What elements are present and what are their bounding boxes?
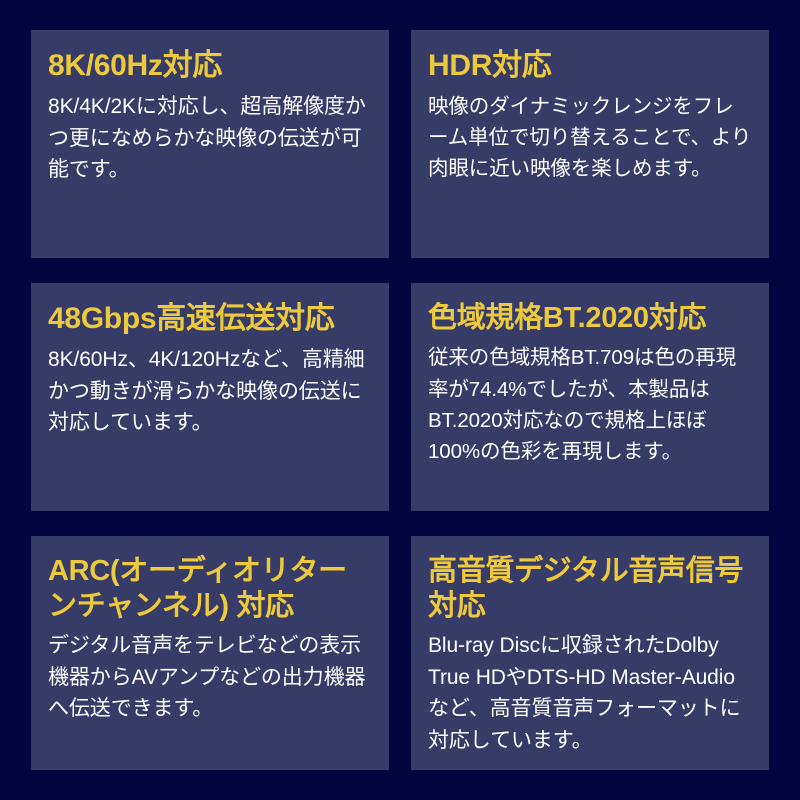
feature-cards-page: 8K/60Hz対応 8K/4K/2Kに対応し、超高解像度かつ更になめらかな映像の… [0, 0, 800, 800]
feature-card-body: 8K/60Hz、4K/120Hzなど、高精細かつ動きが滑らかな映像の伝送に対応し… [48, 344, 373, 440]
feature-card-heading: 高音質デジタル音声信号対応 [428, 554, 753, 624]
feature-card-hq-audio: 高音質デジタル音声信号対応 Blu-ray Discに収録されたDolby Tr… [411, 536, 769, 770]
feature-card-body: Blu-ray Discに収録されたDolby True HDやDTS-HD M… [428, 630, 753, 758]
feature-card-heading: 8K/60Hz対応 [48, 48, 373, 85]
feature-card-heading: HDR対応 [428, 48, 753, 85]
feature-card-body: 映像のダイナミックレンジをフレーム単位で切り替えることで、より肉眼に近い映像を楽… [428, 91, 753, 184]
feature-card-bt2020: 色域規格BT.2020対応 従来の色域規格BT.709は色の再現率が74.4%で… [411, 283, 769, 511]
feature-card-heading: ARC(オーディオリターンチャンネル) 対応 [48, 554, 373, 624]
feature-card-heading: 48Gbps高速伝送対応 [48, 301, 373, 338]
feature-card-48gbps: 48Gbps高速伝送対応 8K/60Hz、4K/120Hzなど、高精細かつ動きが… [31, 283, 389, 511]
feature-card-hdr: HDR対応 映像のダイナミックレンジをフレーム単位で切り替えることで、より肉眼に… [411, 30, 769, 258]
feature-card-grid: 8K/60Hz対応 8K/4K/2Kに対応し、超高解像度かつ更になめらかな映像の… [31, 30, 769, 771]
feature-card-body: 従来の色域規格BT.709は色の再現率が74.4%でしたが、本製品はBT.202… [428, 342, 753, 467]
feature-card-body: デジタル音声をテレビなどの表示機器からAVアンプなどの出力機器へ伝送できます。 [48, 630, 373, 726]
feature-card-8k-60hz: 8K/60Hz対応 8K/4K/2Kに対応し、超高解像度かつ更になめらかな映像の… [31, 30, 389, 258]
feature-card-heading: 色域規格BT.2020対応 [428, 301, 753, 336]
feature-card-arc: ARC(オーディオリターンチャンネル) 対応 デジタル音声をテレビなどの表示機器… [31, 536, 389, 770]
feature-card-body: 8K/4K/2Kに対応し、超高解像度かつ更になめらかな映像の伝送が可能です。 [48, 91, 373, 187]
